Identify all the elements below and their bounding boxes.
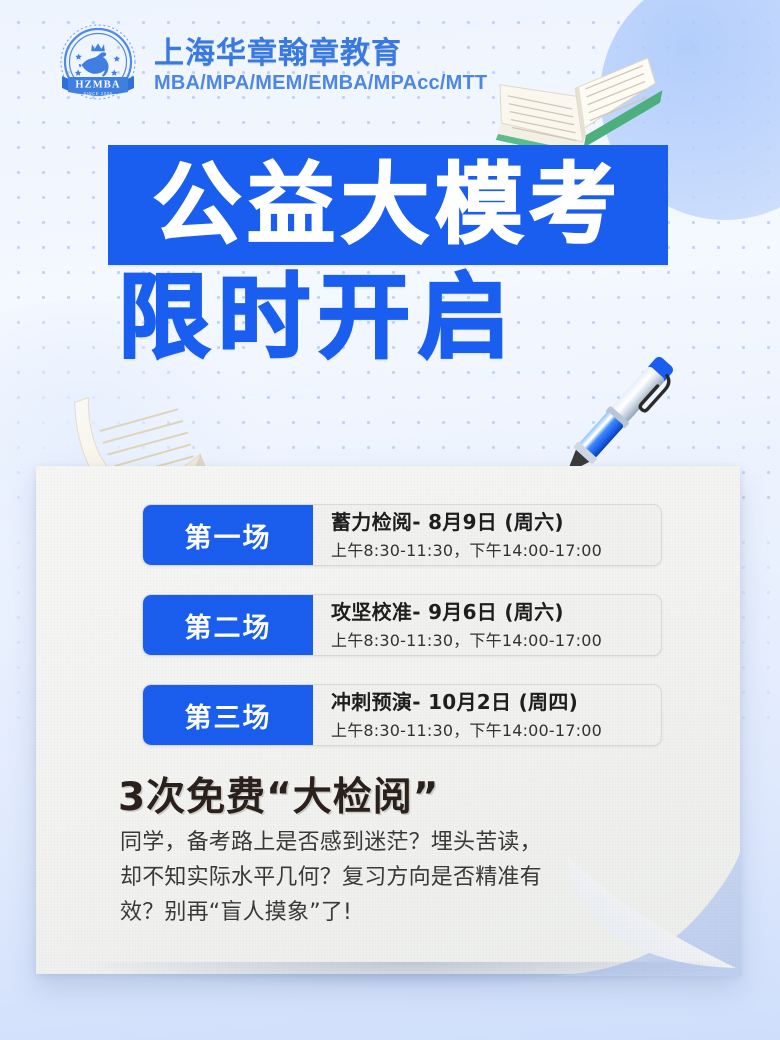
main-title-line1: 公益大模考: [153, 161, 623, 249]
list-item[interactable]: 第一场 蓄力检阅- 8月9日 (周六) 上午8:30-11:30，下午14:00…: [142, 504, 662, 566]
promo-paragraph-line-1: 同学，备考路上是否感到迷茫？埋头苦读，: [120, 826, 590, 861]
session-info: 蓄力检阅- 8月9日 (周六) 上午8:30-11:30，下午14:00-17:…: [313, 505, 661, 565]
schedule-card: 第一场 蓄力检阅- 8月9日 (周六) 上午8:30-11:30，下午14:00…: [36, 466, 740, 974]
main-title-line2: 限时开启: [118, 272, 678, 364]
poster-root: HZMBA SINCE 2005 上海华章翰章教育 MBA/MPA/MEM/EM…: [0, 0, 780, 1040]
session-tag: 第二场: [143, 595, 313, 655]
promo-paragraph-line-2: 却不知实际水平几何？复习方向是否精准有: [120, 861, 590, 896]
session-title: 冲刺预演- 10月2日 (周四): [331, 690, 661, 715]
main-title-block: 公益大模考: [108, 145, 668, 265]
session-time: 上午8:30-11:30，下午14:00-17:00: [331, 537, 661, 561]
logo-text: HZMBA: [75, 80, 120, 91]
brand-header: HZMBA SINCE 2005 上海华章翰章教育 MBA/MPA/MEM/EM…: [56, 22, 487, 106]
session-list: 第一场 蓄力检阅- 8月9日 (周六) 上午8:30-11:30，下午14:00…: [142, 504, 662, 774]
session-time: 上午8:30-11:30，下午14:00-17:00: [331, 717, 661, 741]
session-info: 攻坚校准- 9月6日 (周六) 上午8:30-11:30，下午14:00-17:…: [313, 595, 661, 655]
list-item[interactable]: 第三场 冲刺预演- 10月2日 (周四) 上午8:30-11:30，下午14:0…: [142, 684, 662, 746]
session-title: 蓄力检阅- 8月9日 (周六): [331, 510, 661, 535]
promo-paragraph-line-3: 效？别再“盲人摸象”了!: [120, 896, 590, 931]
promo-paragraph: 同学，备考路上是否感到迷茫？埋头苦读， 却不知实际水平几何？复习方向是否精准有 …: [120, 826, 590, 930]
session-tag: 第三场: [143, 685, 313, 745]
session-time: 上午8:30-11:30，下午14:00-17:00: [331, 627, 661, 651]
brand-name-en: MBA/MPA/MEM/EMBA/MPAcc/MTT: [154, 72, 487, 95]
list-item[interactable]: 第二场 攻坚校准- 9月6日 (周六) 上午8:30-11:30，下午14:00…: [142, 594, 662, 656]
session-tag: 第一场: [143, 505, 313, 565]
brand-name-block: 上海华章翰章教育 MBA/MPA/MEM/EMBA/MPAcc/MTT: [154, 33, 487, 95]
session-info: 冲刺预演- 10月2日 (周四) 上午8:30-11:30，下午14:00-17…: [313, 685, 661, 745]
logo-since-text: SINCE 2005: [83, 91, 112, 96]
brand-name-cn: 上海华章翰章教育: [154, 37, 487, 70]
promo-headline: 3次免费“大检阅”: [118, 766, 439, 822]
session-title: 攻坚校准- 9月6日 (周六): [331, 600, 661, 625]
hzmba-circular-badge-icon: HZMBA SINCE 2005: [56, 22, 140, 106]
